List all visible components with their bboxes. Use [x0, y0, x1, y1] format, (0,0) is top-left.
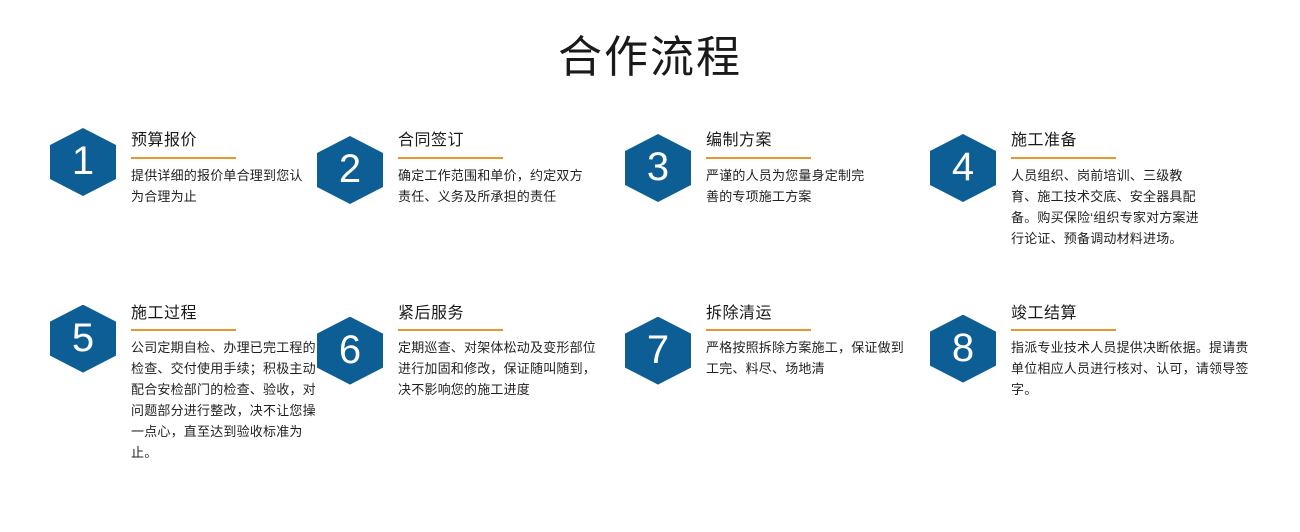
step-number-label: 2: [339, 149, 361, 191]
step-body-7: 拆除清运 严格按照拆除方案施工，保证做到工完、料尽、场地清: [706, 301, 915, 380]
step-description-2: 确定工作范围和单价，约定双方责任、义务及所承担的责任: [398, 165, 583, 207]
process-steps-row-1: 1 预算报价 提供详细的报价单合理到您认为合理为止 2 合同签订 确定工作范围和…: [0, 128, 1300, 249]
step-number-badge-2: 2: [317, 136, 383, 204]
step-body-6: 紧后服务 定期巡查、对架体松动及变形部位进行加固和修改，保证随叫随到，决不影响您…: [398, 301, 610, 401]
step-number-badge-7: 7: [625, 317, 691, 385]
step-body-3: 编制方案 严谨的人员为您量身定制完善的专项施工方案: [706, 128, 915, 207]
title-underline-rule: [1011, 157, 1116, 159]
step-title-8: 竣工结算: [1011, 303, 1300, 325]
process-step-3: 3 编制方案 严谨的人员为您量身定制完善的专项施工方案: [610, 128, 915, 249]
step-description-1: 提供详细的报价单合理到您认为合理为止: [131, 165, 311, 207]
step-body-4: 施工准备 人员组织、岗前培训、三级教育、施工技术交底、安全器具配备。购买保险‘组…: [1011, 128, 1300, 249]
step-number-badge-5: 5: [50, 305, 116, 373]
step-number-badge-4: 4: [930, 134, 996, 202]
step-number-badge-6: 6: [317, 317, 383, 385]
step-title-4: 施工准备: [1011, 130, 1300, 152]
process-steps-grid: 1 预算报价 提供详细的报价单合理到您认为合理为止 2 合同签订 确定工作范围和…: [0, 128, 1300, 463]
process-step-4: 4 施工准备 人员组织、岗前培训、三级教育、施工技术交底、安全器具配备。购买保险…: [915, 128, 1300, 249]
title-underline-rule: [1011, 329, 1116, 331]
step-number-label: 7: [647, 330, 669, 372]
step-number-label: 3: [647, 147, 669, 189]
title-underline-rule: [706, 157, 811, 159]
step-title-2: 合同签订: [398, 130, 610, 152]
step-title-5: 施工过程: [131, 303, 305, 325]
step-title-1: 预算报价: [131, 130, 305, 152]
title-underline-rule: [131, 157, 236, 159]
process-step-5: 5 施工过程 公司定期自检、办理已完工程的检查、交付使用手续；积极主动配合安检部…: [0, 301, 305, 464]
step-description-7: 严格按照拆除方案施工，保证做到工完、料尽、场地清: [706, 337, 906, 379]
step-body-8: 竣工结算 指派专业技术人员提供决断依据。提请贵单位相应人员进行核对、认可，请领导…: [1011, 301, 1300, 401]
step-number-label: 5: [72, 318, 94, 360]
title-underline-rule: [398, 329, 503, 331]
title-underline-rule: [398, 157, 503, 159]
process-steps-row-2: 5 施工过程 公司定期自检、办理已完工程的检查、交付使用手续；积极主动配合安检部…: [0, 301, 1300, 464]
step-number-badge-3: 3: [625, 134, 691, 202]
step-body-2: 合同签订 确定工作范围和单价，约定双方责任、义务及所承担的责任: [398, 128, 610, 207]
step-body-1: 预算报价 提供详细的报价单合理到您认为合理为止: [131, 128, 305, 207]
step-description-5: 公司定期自检、办理已完工程的检查、交付使用手续；积极主动配合安检部门的检查、验收…: [131, 337, 316, 463]
step-title-3: 编制方案: [706, 130, 915, 152]
step-number-label: 1: [72, 141, 94, 183]
step-title-7: 拆除清运: [706, 303, 915, 325]
step-description-4: 人员组织、岗前培训、三级教育、施工技术交底、安全器具配备。购买保险‘组织专家对方…: [1011, 165, 1201, 249]
step-number-badge-1: 1: [50, 128, 116, 196]
step-number-label: 8: [952, 328, 974, 370]
process-step-2: 2 合同签订 确定工作范围和单价，约定双方责任、义务及所承担的责任: [305, 128, 610, 249]
process-step-6: 6 紧后服务 定期巡查、对架体松动及变形部位进行加固和修改，保证随叫随到，决不影…: [305, 301, 610, 464]
page-title: 合作流程: [0, 0, 1300, 85]
process-step-7: 7 拆除清运 严格按照拆除方案施工，保证做到工完、料尽、场地清: [610, 301, 915, 464]
step-number-badge-8: 8: [930, 315, 996, 383]
title-underline-rule: [706, 329, 811, 331]
step-description-3: 严谨的人员为您量身定制完善的专项施工方案: [706, 165, 871, 207]
step-title-6: 紧后服务: [398, 303, 610, 325]
step-description-8: 指派专业技术人员提供决断依据。提请贵单位相应人员进行核对、认可，请领导签字。: [1011, 337, 1256, 400]
step-number-label: 6: [339, 330, 361, 372]
process-step-8: 8 竣工结算 指派专业技术人员提供决断依据。提请贵单位相应人员进行核对、认可，请…: [915, 301, 1300, 464]
step-number-label: 4: [952, 147, 974, 189]
title-underline-rule: [131, 329, 236, 331]
step-body-5: 施工过程 公司定期自检、办理已完工程的检查、交付使用手续；积极主动配合安检部门的…: [131, 301, 305, 464]
process-step-1: 1 预算报价 提供详细的报价单合理到您认为合理为止: [0, 128, 305, 249]
step-description-6: 定期巡查、对架体松动及变形部位进行加固和修改，保证随叫随到，决不影响您的施工进度: [398, 337, 603, 400]
